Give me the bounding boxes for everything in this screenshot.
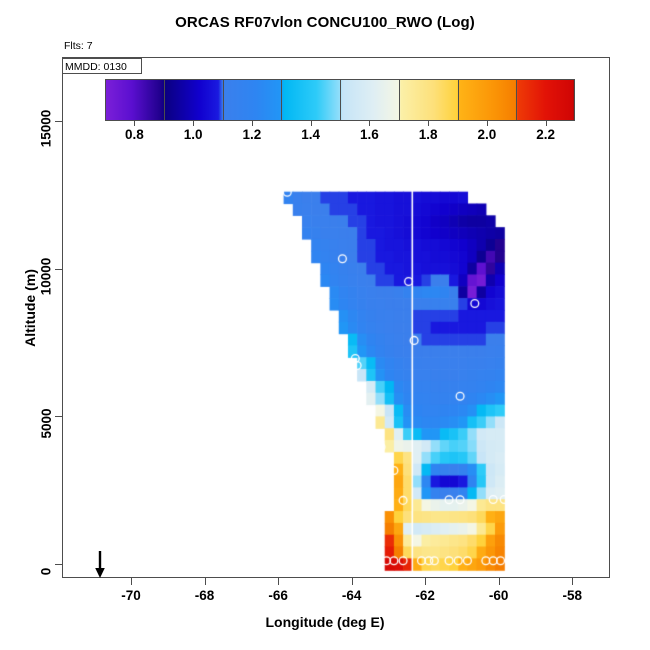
colorbar-tick-label: 1.8 <box>419 127 438 142</box>
colorbar-tick-label: 1.4 <box>301 127 320 142</box>
colorbar-divider <box>164 79 165 121</box>
colorbar-tick <box>252 121 253 126</box>
colorbar-divider <box>340 79 341 121</box>
x-axis-tick <box>425 578 426 585</box>
colorbar-tick <box>369 121 370 126</box>
x-axis-tick-label: -68 <box>195 588 215 603</box>
x-axis-tick <box>352 578 353 585</box>
x-axis-tick-label: -58 <box>562 588 582 603</box>
y-axis-tick-label: 5000 <box>47 409 62 439</box>
x-axis-tick <box>572 578 573 585</box>
heatmap-canvas[interactable] <box>63 58 609 577</box>
x-axis-tick-label: -60 <box>489 588 509 603</box>
x-axis-tick-label: -70 <box>121 588 141 603</box>
colorbar-tick-label: 2.0 <box>477 127 496 142</box>
x-axis-tick <box>205 578 206 585</box>
colorbar-divider <box>281 79 282 121</box>
colorbar-tick-label: 1.0 <box>184 127 203 142</box>
colorbar-divider <box>516 79 517 121</box>
colorbar-tick <box>134 121 135 126</box>
colorbar-tick <box>546 121 547 126</box>
colorbar-tick-label: 2.2 <box>536 127 555 142</box>
y-axis-tick-label: 15000 <box>47 109 62 147</box>
colorbar-tick-label: 1.6 <box>360 127 379 142</box>
colorbar-divider <box>399 79 400 121</box>
colorbar-divider <box>458 79 459 121</box>
colorbar-divider <box>223 79 224 121</box>
flight-count-label: Flts: 7 <box>64 40 93 52</box>
colorbar-tick <box>487 121 488 126</box>
y-axis-tick <box>55 564 62 565</box>
x-axis-tick-label: -64 <box>342 588 362 603</box>
y-axis-tick-label: 0 <box>47 568 62 576</box>
x-axis-tick <box>278 578 279 585</box>
page-title: ORCAS RF07vlon CONCU100_RWO (Log) <box>0 14 650 31</box>
colorbar-tick <box>193 121 194 126</box>
colorbar-tick <box>311 121 312 126</box>
x-axis-tick <box>131 578 132 585</box>
takeoff-arrow-icon <box>93 550 107 578</box>
x-axis-label: Longitude (deg E) <box>0 614 650 630</box>
x-axis-tick-label: -66 <box>268 588 288 603</box>
colorbar-tick <box>428 121 429 126</box>
mmdd-label: MMDD: 0130 <box>65 61 127 73</box>
y-axis-label: Altitude (m) <box>22 218 38 398</box>
y-axis-tick-label: 10000 <box>47 257 62 295</box>
plot-root: ORCAS RF07vlon CONCU100_RWO (Log) Flts: … <box>0 0 650 650</box>
x-axis-tick <box>499 578 500 585</box>
colorbar-tick-label: 1.2 <box>242 127 261 142</box>
x-axis-tick-label: -62 <box>415 588 435 603</box>
colorbar[interactable]: 0.81.01.21.41.61.82.02.2 <box>105 79 575 121</box>
colorbar-tick-label: 0.8 <box>125 127 144 142</box>
